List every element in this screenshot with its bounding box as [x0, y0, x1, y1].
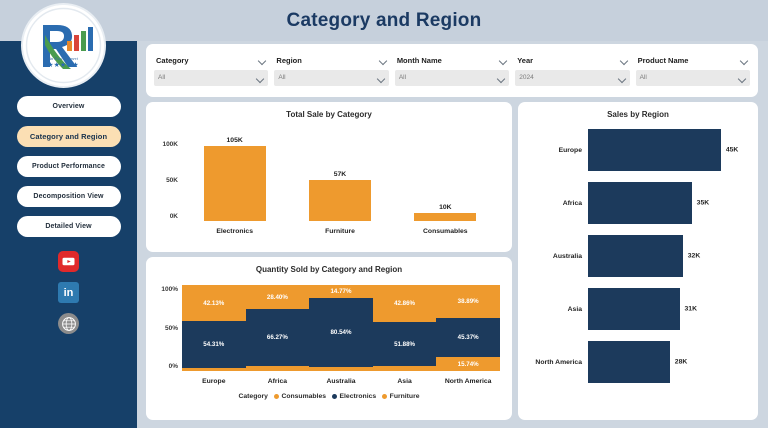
svg-text:★★★★★: ★★★★★ [47, 61, 78, 69]
chart-title-sales-by-region: Sales by Region [518, 102, 758, 119]
y-tick-100pct: 100% [156, 286, 178, 293]
chart-card-sales-by-region: Sales by Region Europe 45K Africa 35K [518, 102, 758, 420]
segment-electronics-africa: 66.27% [246, 309, 310, 366]
segment-electronics-australia: 80.54% [309, 298, 373, 367]
legend-item-furniture[interactable]: Furniture [382, 393, 419, 400]
chart-title-total-sale: Total Sale by Category [146, 102, 512, 119]
linkedin-icon[interactable]: in [58, 282, 79, 303]
segment-consumables-australia [309, 367, 373, 371]
legend-label-furniture: Furniture [390, 393, 420, 400]
region-track-north-america: 28K [588, 341, 750, 383]
segment-value: 14.77% [330, 288, 351, 295]
region-value-north-america: 28K [675, 359, 687, 366]
segment-furniture-europe: 42.13% [182, 285, 246, 321]
filter-month-name-value: All [399, 74, 406, 81]
filter-region-header[interactable]: Region [274, 56, 388, 65]
region-bar-north-america[interactable]: North America 28K [526, 341, 750, 383]
sidebar-item-category-and-region[interactable]: Category and Region [17, 126, 121, 147]
chevron-down-icon [257, 76, 264, 80]
stack-label-australia: Australia [309, 378, 373, 385]
region-value-africa: 35K [697, 200, 709, 207]
segment-furniture-north-america: 38.89% [436, 285, 500, 318]
segment-consumables-africa [246, 366, 310, 371]
stack-africa[interactable]: 28.40% 66.27% Africa [246, 285, 310, 371]
legend-swatch-furniture [382, 394, 387, 399]
bar-electronics[interactable]: 105K Electronics [204, 137, 266, 221]
region-value-europe: 45K [726, 147, 738, 154]
segment-value: 42.13% [203, 300, 224, 307]
stack-label-africa: Africa [246, 378, 310, 385]
y-tick-50pct: 50% [156, 325, 178, 332]
bar-label-furniture: Furniture [325, 228, 355, 235]
filter-month-name-label: Month Name [397, 56, 442, 65]
filter-year-value: 2024 [519, 74, 533, 81]
svg-text:An Excel Expert: An Excel Expert [47, 56, 79, 61]
filter-category-label: Category [156, 56, 189, 65]
segment-value: 42.86% [394, 300, 415, 307]
stack-north-america[interactable]: 38.89% 45.37% 15.74% North America [436, 285, 500, 371]
dashboard-root: Category and Region An Excel Expert ★★★★… [0, 0, 768, 428]
chevron-down-icon [621, 58, 628, 62]
chart-card-total-sale-by-category: Total Sale by Category 0K 50K 100K 105K … [146, 102, 512, 252]
linkedin-glyph: in [64, 287, 74, 299]
chevron-down-icon [500, 58, 507, 62]
main-content: Category All Region All [143, 41, 763, 426]
segment-furniture-africa: 28.40% [246, 285, 310, 309]
total-sale-bars: 105K Electronics 57K Furniture 10K Consu… [182, 137, 498, 221]
sidebar-item-label: Decomposition View [33, 193, 103, 200]
segment-value: 45.37% [458, 334, 479, 341]
chevron-down-icon [741, 58, 748, 62]
filter-category-select[interactable]: All [154, 70, 268, 86]
segment-furniture-asia: 42.86% [373, 285, 437, 322]
filter-month-name: Month Name All [395, 56, 509, 86]
chart-card-quantity-sold: Quantity Sold by Category and Region 0% … [146, 257, 512, 420]
segment-value: 15.74% [458, 361, 479, 368]
segment-value: 51.88% [394, 341, 415, 348]
legend-swatch-electronics [332, 394, 337, 399]
quantity-stacks: 42.13% 54.31% Europe 28.40% [182, 285, 500, 371]
bar-rect-furniture [309, 180, 371, 221]
segment-consumables-europe [182, 368, 246, 371]
y-tick-0pct: 0% [156, 363, 178, 370]
segment-value: 80.54% [330, 329, 351, 336]
legend-item-electronics[interactable]: Electronics [332, 393, 376, 400]
chevron-down-icon [619, 76, 626, 80]
filter-region-label: Region [276, 56, 301, 65]
filter-bar: Category All Region All [146, 44, 758, 97]
segment-value: 66.27% [267, 334, 288, 341]
segment-consumables-asia [373, 366, 437, 371]
region-value-asia: 31K [685, 306, 697, 313]
filter-region-value: All [278, 74, 285, 81]
filter-month-name-header[interactable]: Month Name [395, 56, 509, 65]
region-value-australia: 32K [688, 253, 700, 260]
region-rect-australia [588, 235, 683, 277]
segment-electronics-asia: 51.88% [373, 322, 437, 367]
stack-label-asia: Asia [373, 378, 437, 385]
sidebar-item-label: Category and Region [30, 132, 107, 141]
stack-europe[interactable]: 42.13% 54.31% Europe [182, 285, 246, 371]
bar-value-furniture: 57K [334, 171, 346, 178]
filter-product-name: Product Name All [636, 56, 750, 86]
region-bar-africa[interactable]: Africa 35K [526, 182, 750, 224]
region-bar-europe[interactable]: Europe 45K [526, 129, 750, 171]
filter-region: Region All [274, 56, 388, 86]
segment-furniture-australia: 14.77% [309, 285, 373, 298]
sidebar: An Excel Expert ★★★★★ Overview Category … [0, 41, 137, 428]
region-label-north-america: North America [526, 359, 588, 366]
filter-year-label: Year [517, 56, 533, 65]
region-track-asia: 31K [588, 288, 750, 330]
globe-icon[interactable] [58, 313, 79, 334]
chevron-down-icon [378, 76, 385, 80]
sidebar-nav: Overview Category and Region Product Per… [0, 96, 137, 237]
globe-glyph [61, 316, 77, 332]
bar-label-consumables: Consumables [423, 228, 468, 235]
sidebar-item-product-performance[interactable]: Product Performance [17, 156, 121, 177]
region-label-asia: Asia [526, 306, 588, 313]
stack-asia[interactable]: 42.86% 51.88% Asia [373, 285, 437, 371]
filter-product-name-header[interactable]: Product Name [636, 56, 750, 65]
filter-year-header[interactable]: Year [515, 56, 629, 65]
chevron-down-icon [259, 58, 266, 62]
filter-category-value: All [158, 74, 165, 81]
segment-value: 38.89% [458, 298, 479, 305]
region-label-australia: Australia [526, 253, 588, 260]
chevron-down-icon [498, 76, 505, 80]
social-links: in [58, 251, 79, 334]
legend-item-consumables[interactable]: Consumables [274, 393, 326, 400]
region-rect-north-america [588, 341, 670, 383]
filter-region-select[interactable]: All [274, 70, 388, 86]
region-track-australia: 32K [588, 235, 750, 277]
bar-rect-consumables [414, 213, 476, 221]
region-track-europe: 45K [588, 129, 750, 171]
legend-swatch-consumables [274, 394, 279, 399]
region-rect-africa [588, 182, 692, 224]
sales-by-region-rows: Europe 45K Africa 35K Australia [526, 129, 750, 383]
page-title: Category and Region [287, 10, 482, 32]
rk-analytics-logo: An Excel Expert ★★★★★ [23, 5, 104, 86]
chevron-down-icon [380, 58, 387, 62]
sidebar-item-decomposition-view[interactable]: Decomposition View [17, 186, 121, 207]
sidebar-item-detailed-view[interactable]: Detailed View [17, 216, 121, 237]
segment-value: 28.40% [267, 294, 288, 301]
youtube-glyph [61, 254, 76, 269]
region-bar-australia[interactable]: Australia 32K [526, 235, 750, 277]
chart-legend-quantity: Category Consumables Electronics Furnitu… [146, 393, 512, 400]
bar-value-consumables: 10K [439, 204, 451, 211]
y-tick-50k: 50K [156, 177, 178, 184]
logo-graphic: An Excel Expert ★★★★★ [23, 5, 104, 86]
bar-furniture[interactable]: 57K Furniture [309, 137, 371, 221]
legend-title: Category [238, 393, 267, 400]
filter-product-name-label: Product Name [638, 56, 689, 65]
segment-electronics-north-america: 45.37% [436, 318, 500, 357]
filter-year-select[interactable]: 2024 [515, 70, 629, 86]
filter-product-name-select[interactable]: All [636, 70, 750, 86]
region-label-europe: Europe [526, 147, 588, 154]
filter-month-name-select[interactable]: All [395, 70, 509, 86]
filter-category: Category All [154, 56, 268, 86]
region-rect-asia [588, 288, 680, 330]
sidebar-item-overview[interactable]: Overview [17, 96, 121, 117]
filter-year: Year 2024 [515, 56, 629, 86]
filter-category-header[interactable]: Category [154, 56, 268, 65]
bar-consumables[interactable]: 10K Consumables [414, 137, 476, 221]
segment-electronics-europe: 54.31% [182, 321, 246, 368]
stack-australia[interactable]: 14.77% 80.54% Australia [309, 285, 373, 371]
segment-consumables-north-america: 15.74% [436, 357, 500, 371]
youtube-icon[interactable] [58, 251, 79, 272]
page-header: Category and Region [0, 0, 768, 41]
sidebar-item-label: Product Performance [32, 163, 105, 170]
segment-value: 54.31% [203, 341, 224, 348]
filter-product-name-value: All [640, 74, 647, 81]
region-track-africa: 35K [588, 182, 750, 224]
legend-label-consumables: Consumables [281, 393, 326, 400]
region-rect-europe [588, 129, 721, 171]
quantity-plot-area: 0% 50% 100% 42.13% 54.31% Eur [156, 283, 502, 387]
legend-label-electronics: Electronics [340, 393, 377, 400]
total-sale-plot-area: 0K 50K 100K 105K Electronics 57K Furnitu… [156, 129, 502, 241]
stack-label-north-america: North America [436, 378, 500, 385]
y-tick-100k: 100K [156, 141, 178, 148]
stack-label-europe: Europe [182, 378, 246, 385]
chart-title-quantity-sold: Quantity Sold by Category and Region [146, 257, 512, 274]
sidebar-item-label: Overview [53, 103, 85, 110]
bar-rect-electronics [204, 146, 266, 221]
y-tick-0k: 0K [156, 213, 178, 220]
sidebar-item-label: Detailed View [45, 223, 91, 230]
bar-value-electronics: 105K [227, 137, 243, 144]
bar-label-electronics: Electronics [216, 228, 253, 235]
chevron-down-icon [739, 76, 746, 80]
region-bar-asia[interactable]: Asia 31K [526, 288, 750, 330]
region-label-africa: Africa [526, 200, 588, 207]
